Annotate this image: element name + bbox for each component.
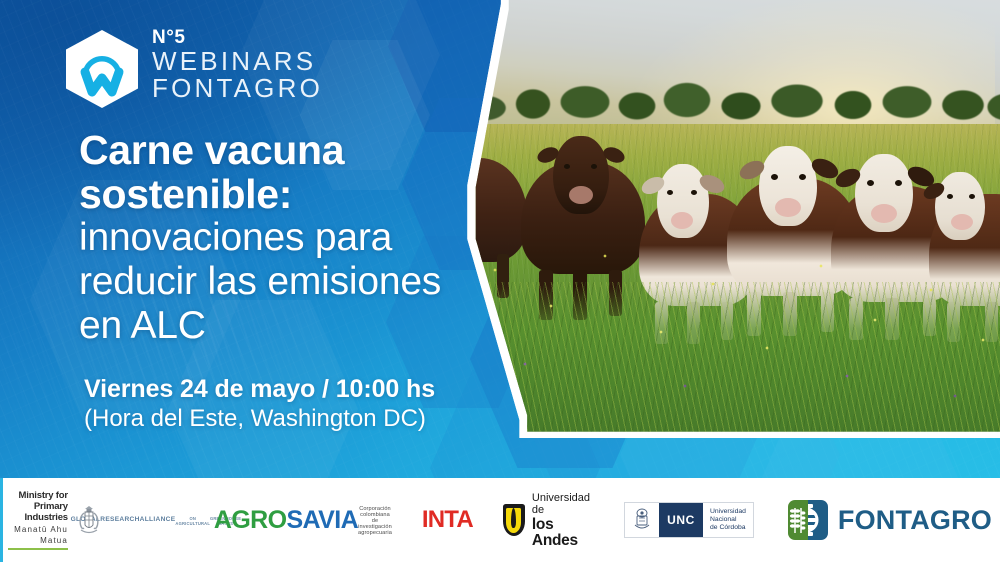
event-date: Viernes 24 de mayo / 10:00 hs xyxy=(84,374,564,404)
sponsor-logo-universidad-de-los-andes: Universidad de los Andes xyxy=(503,492,594,549)
unc-crest-icon xyxy=(625,503,659,537)
unc-line-1: Universidad xyxy=(710,508,746,516)
mpi-accent-rule xyxy=(8,548,68,550)
mpi-line-2: Manatū Ahu Matua xyxy=(8,524,68,546)
unc-abbr: UNC xyxy=(667,513,695,527)
unc-abbr-box: UNC xyxy=(659,503,703,537)
event-timezone: (Hora del Este, Washington DC) xyxy=(84,404,564,434)
fontagro-w-hexagon-icon xyxy=(66,30,138,108)
event-datetime: Viernes 24 de mayo / 10:00 hs (Hora del … xyxy=(84,374,564,434)
gra-line-2: RESEARCH xyxy=(100,516,139,523)
logo-line-fontagro: FONTAGRO xyxy=(152,75,352,102)
sponsor-logo-ministry-for-primary-industries: Ministry for Primary Industries Manatū A… xyxy=(8,490,102,550)
title-light-line-2: reducir las emisiones xyxy=(79,260,549,304)
w-arc-glyph xyxy=(66,30,138,108)
fontagro-wheat-half xyxy=(788,500,808,540)
fontagro-gear-half xyxy=(808,500,828,540)
nz-coat-of-arms-icon xyxy=(76,503,102,537)
title-light-line-3: en ALC xyxy=(79,304,549,348)
uniandes-line-1: Universidad de xyxy=(532,492,594,517)
agrosavia-tagline: Corporación colombiana de investigación … xyxy=(358,506,392,536)
webinar-promo-banner: N°5 WEBINARS FONTAGRO Carne vacuna soste… xyxy=(0,0,1000,562)
mpi-line-1: Ministry for Primary Industries xyxy=(8,490,68,523)
agrosavia-agro: AGRO xyxy=(214,506,287,534)
fontagro-mark-icon xyxy=(788,500,828,540)
gra-sub-1: ON AGRICULTURAL xyxy=(175,516,210,526)
inta-wordmark: INTA xyxy=(422,508,473,532)
fontagro-wordmark: FONTAGRO xyxy=(838,505,992,536)
title-light-line-1: innovaciones para xyxy=(79,216,549,260)
gra-line-3: ALLIANCE xyxy=(140,516,176,523)
sponsor-logo-universidad-nacional-de-cordoba: UNC Universidad Nacional de Córdoba xyxy=(624,502,754,538)
uniandes-shield-icon xyxy=(503,504,525,536)
webinars-fontagro-logo: N°5 WEBINARS FONTAGRO xyxy=(66,26,346,112)
logo-line-webinars: WEBINARS xyxy=(152,48,352,75)
unc-line-2: Nacional xyxy=(710,516,746,524)
uniandes-text: Universidad de los Andes xyxy=(532,492,594,549)
sponsor-logo-inta: INTA xyxy=(422,508,473,532)
title-bold-line-1: Carne vacuna xyxy=(79,128,549,172)
unc-text: Universidad Nacional de Córdoba xyxy=(703,508,753,533)
sponsor-logo-agrosavia: AGROSAVIA Corporación colombiana de inve… xyxy=(214,505,392,536)
mpi-text: Ministry for Primary Industries Manatū A… xyxy=(8,490,68,550)
sponsor-logo-global-research-alliance: GLOBAL RESEARCH ALLIANCE ON AGRICULTURAL… xyxy=(128,509,184,532)
sponsor-logo-fontagro: FONTAGRO xyxy=(788,500,992,540)
title-bold-line-2: sostenible: xyxy=(79,172,549,216)
agrosavia-wordmark: AGROSAVIA xyxy=(214,507,358,533)
edition-number: N°5 xyxy=(152,28,352,48)
uniandes-line-2: los Andes xyxy=(532,517,594,549)
unc-line-3: de Córdoba xyxy=(710,524,746,532)
sponsor-logo-row: Ministry for Primary Industries Manatū A… xyxy=(0,478,1000,562)
event-title: Carne vacuna sostenible: innovaciones pa… xyxy=(79,128,549,348)
agrosavia-savia: SAVIA xyxy=(286,506,358,534)
logo-text: N°5 WEBINARS FONTAGRO xyxy=(152,26,352,102)
